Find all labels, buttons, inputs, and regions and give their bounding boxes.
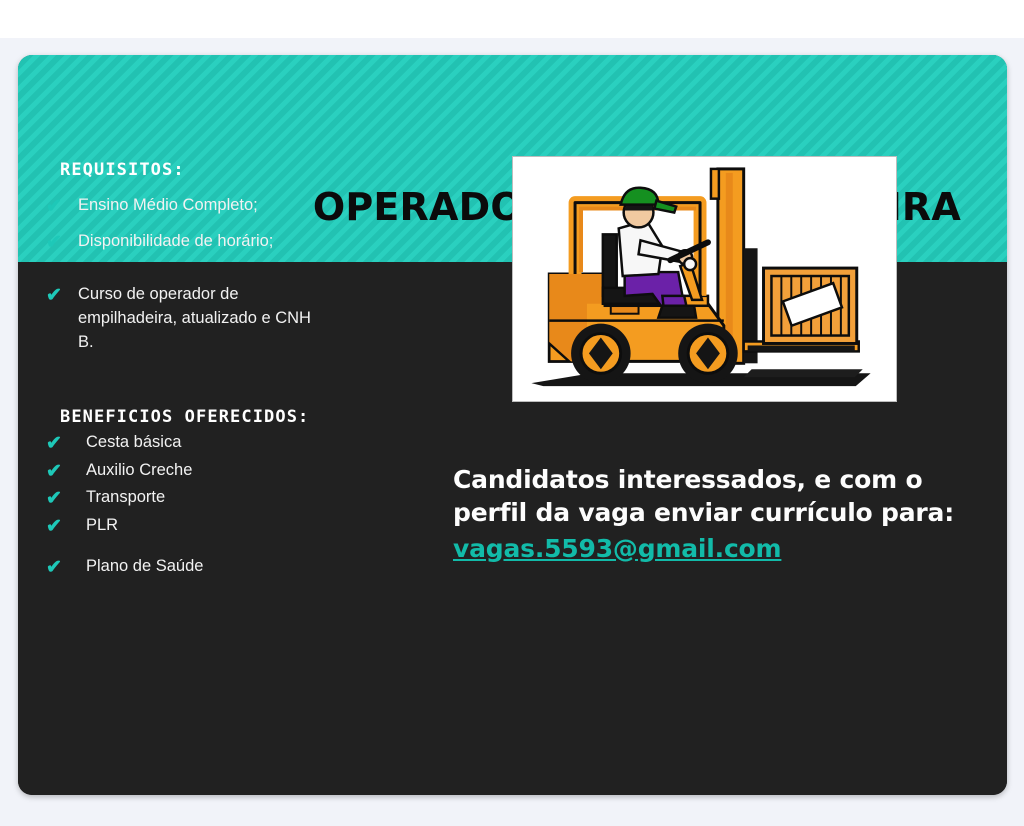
forklift-operator-illustration xyxy=(512,156,897,402)
beneficios-list: ✔ Cesta básica ✔ Auxilio Creche ✔ Transp… xyxy=(44,431,424,580)
requirements-and-benefits-column: REQUISITOS: ✔ Ensino Médio Completo; ✔ D… xyxy=(44,160,424,582)
list-item-label: Disponibilidade de horário; xyxy=(78,230,424,254)
cta-line-1: Candidatos interessados, e com o xyxy=(453,463,973,496)
check-icon: ✔ xyxy=(44,555,78,581)
requisitos-list: ✔ Ensino Médio Completo; ✔ Disponibilida… xyxy=(44,194,424,355)
check-icon: ✔ xyxy=(44,194,78,220)
list-item-label: Auxilio Creche xyxy=(78,459,424,483)
check-icon: ✔ xyxy=(44,459,78,485)
check-icon: ✔ xyxy=(44,230,78,256)
list-item: ✔ Transporte xyxy=(44,486,424,512)
beneficios-heading: BENEFICIOS OFERECIDOS: xyxy=(60,407,424,427)
job-poster-card: OPERADOR DE EMPILHADEIRA REQUISITOS: ✔ E… xyxy=(18,55,1007,795)
check-icon: ✔ xyxy=(44,514,78,540)
list-item-label: Cesta básica xyxy=(78,431,424,455)
list-item-label: Curso de operador de empilhadeira, atual… xyxy=(78,283,323,355)
contact-call-to-action: Candidatos interessados, e com o perfil … xyxy=(453,463,973,565)
list-item-label: Plano de Saúde xyxy=(78,555,424,579)
list-item: ✔ Disponibilidade de horário; xyxy=(44,230,424,256)
list-item: ✔ Ensino Médio Completo; xyxy=(44,194,424,220)
poster-page: OPERADOR DE EMPILHADEIRA REQUISITOS: ✔ E… xyxy=(0,0,1024,826)
cta-line-2: perfil da vaga enviar currículo para: xyxy=(453,496,973,529)
check-icon: ✔ xyxy=(44,431,78,457)
list-item: ✔ Cesta básica xyxy=(44,431,424,457)
list-item: ✔ Curso de operador de empilhadeira, atu… xyxy=(44,283,424,355)
requisitos-heading: REQUISITOS: xyxy=(60,160,424,180)
list-item-label: Transporte xyxy=(78,486,424,510)
contact-email-link[interactable]: vagas.5593@gmail.com xyxy=(453,532,781,565)
list-item: ✔ PLR xyxy=(44,514,424,540)
list-item: ✔ Plano de Saúde xyxy=(44,555,424,581)
check-icon: ✔ xyxy=(44,486,78,512)
check-icon: ✔ xyxy=(44,283,78,309)
list-item-label: PLR xyxy=(78,514,424,538)
list-item: ✔ Auxilio Creche xyxy=(44,459,424,485)
list-item-label: Ensino Médio Completo; xyxy=(78,194,424,218)
